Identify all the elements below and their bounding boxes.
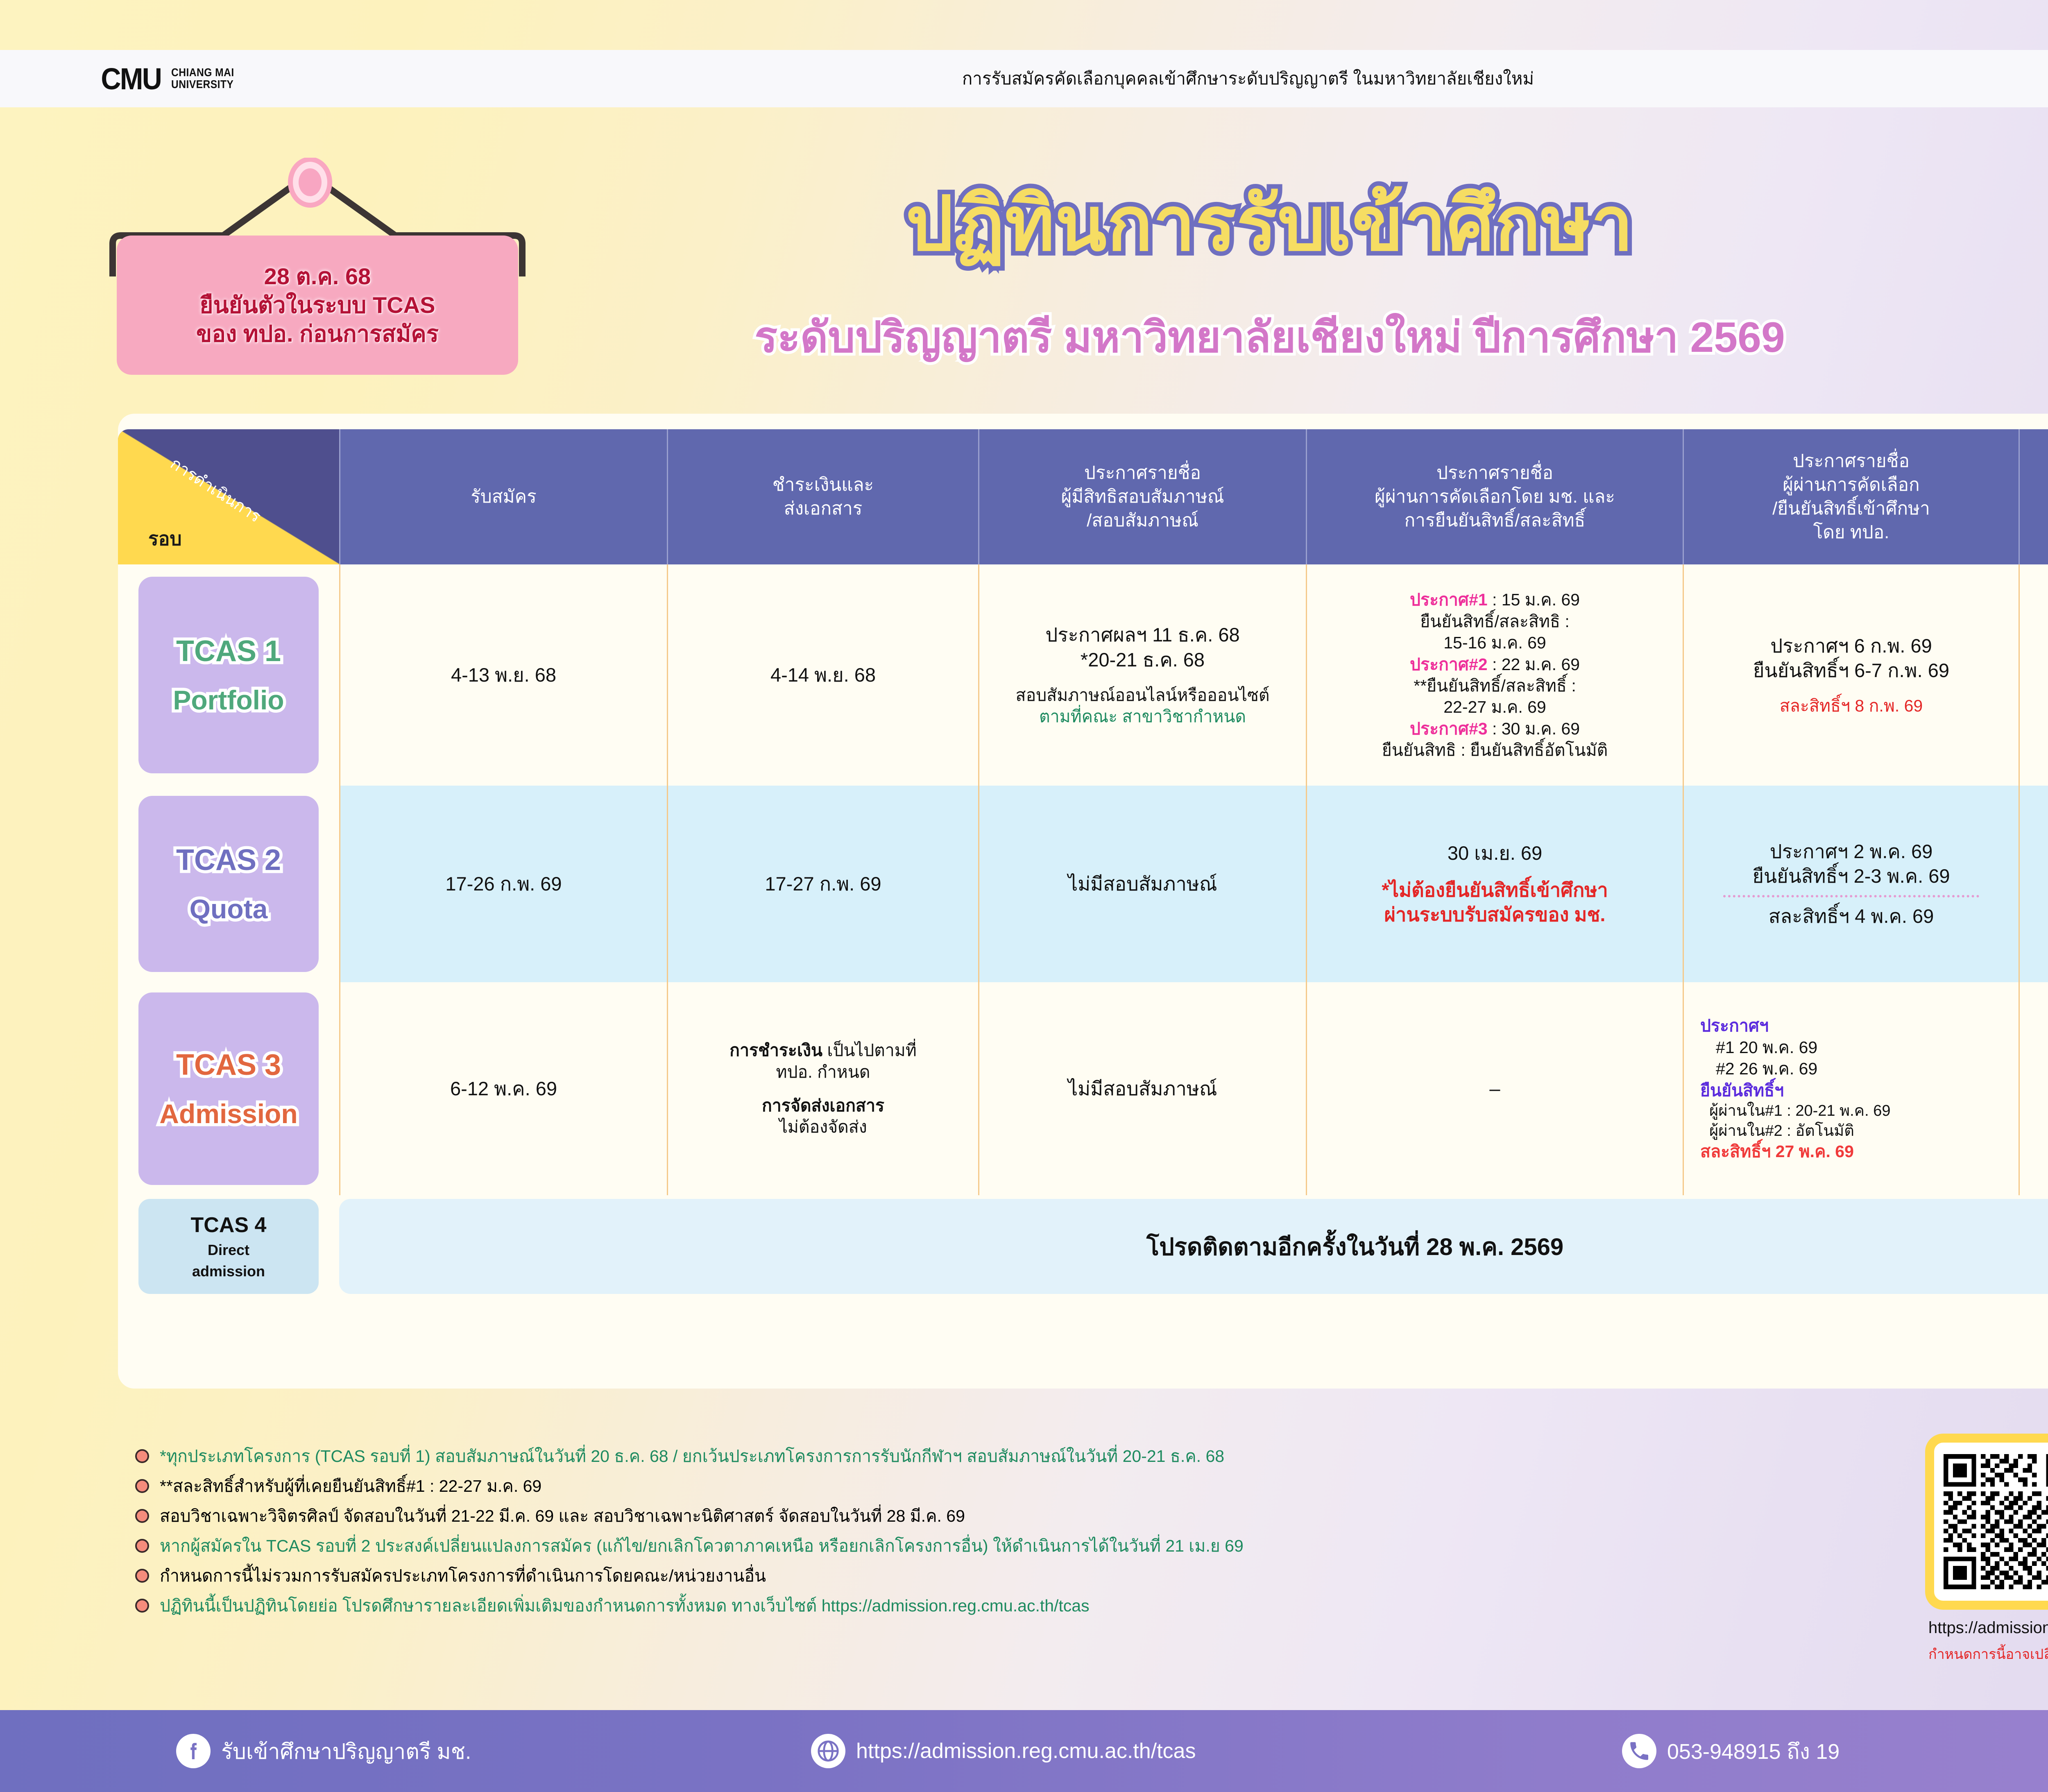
top-bar: CMU CHIANG MAI UNIVERSITY การรับสมัครคัด…	[0, 50, 2048, 107]
qr-code-icon[interactable]	[1944, 1454, 2048, 1589]
bullet-icon	[135, 1479, 149, 1493]
qr-url-text[interactable]: https://admission.reg.cmu.ac.th/tcas	[1925, 1619, 2048, 1637]
tcas1-tpo-cell: ประกาศฯ 6 ก.พ. 69 ยืนยันสิทธิ์ฯ 6-7 ก.พ.…	[1683, 564, 2019, 786]
col-header-payment: ชำระเงินและ ส่งเอกสาร	[667, 429, 978, 564]
tcas1-apply-cell: 4-13 พ.ย. 68	[339, 564, 667, 786]
tcas1-title: TCAS 1	[176, 634, 281, 668]
tcas1-cmu-confirmed-cell: 10 ก.พ. 69	[2019, 564, 2048, 786]
footnote-item: กำหนดการนี้ไม่รวมการรับสมัครประเภทโครงกา…	[135, 1565, 1876, 1586]
tcas1-cmu-selected-cell: ประกาศ#1 : 15 ม.ค. 69 ยืนยันสิทธิ์/สละสิ…	[1306, 564, 1683, 786]
tcas4-notice-cell: โปรดติดตามอีกครั้งในวันที่ 28 พ.ค. 2569	[339, 1199, 2048, 1294]
tcas2-title: TCAS 2	[176, 843, 281, 877]
bullet-icon	[135, 1599, 149, 1613]
tcas1-payment-cell: 4-14 พ.ย. 68	[667, 564, 978, 786]
tcas4-subtitle-2: admission	[192, 1263, 265, 1280]
footnote-item: หากผู้สมัครใน TCAS รอบที่ 2 ประสงค์เปลี่…	[135, 1536, 1876, 1556]
phone-label: 053-948915 ถึง 19	[1667, 1734, 1840, 1768]
qr-block: SCAN ME! https://admission.reg.cmu.ac.th…	[1925, 1434, 2048, 1665]
footnote-item: สอบวิชาเฉพาะวิจิตรศิลป์ จัดสอบในวันที่ 2…	[135, 1506, 1876, 1526]
badge-card: 28 ต.ค. 68 ยืนยันตัวในระบบ TCAS ของ ทปอ.…	[117, 236, 518, 375]
hanging-badge: 28 ต.ค. 68 ยืนยันตัวในระบบ TCAS ของ ทปอ.…	[100, 158, 535, 387]
badge-line-1: 28 ต.ค. 68	[264, 263, 371, 290]
tcas2-payment-cell: 17-27 ก.พ. 69	[667, 786, 978, 982]
bullet-icon	[135, 1509, 149, 1523]
tcas2-divider	[1723, 895, 1979, 897]
tcas2-tpo-cell: ประกาศฯ 2 พ.ค. 69 ยืนยันสิทธิ์ฯ 2-3 พ.ค.…	[1683, 786, 2019, 982]
table-corner-cell: การดำเนินการ รอบ	[118, 429, 339, 564]
tcas1-subtitle: Portfolio	[173, 684, 284, 716]
corner-label-round: รอบ	[148, 524, 182, 554]
phone-contact[interactable]: 053-948915 ถึง 19	[1622, 1734, 1840, 1768]
badge-line-3: ของ ทปอ. ก่อนการสมัคร	[196, 320, 439, 348]
col-header-tpo-confirm: ประกาศรายชื่อ ผู้ผ่านการคัดเลือก /ยืนยัน…	[1683, 429, 2019, 564]
table-row-tcas2: TCAS 2 Quota 17-26 ก.พ. 69 17-27 ก.พ. 69…	[118, 786, 2048, 982]
header-title: การรับสมัครคัดเลือกบุคคลเข้าศึกษาระดับปร…	[0, 65, 2048, 92]
page-title: ปฏิทินการรับเข้าศึกษา	[573, 164, 1966, 283]
tcas3-cmu-selected-cell: –	[1306, 982, 1683, 1195]
phone-icon	[1622, 1734, 1656, 1768]
row-label-tcas2: TCAS 2 Quota	[118, 786, 339, 982]
globe-icon	[811, 1734, 845, 1768]
footnote-item: ปฏิทินนี้เป็นปฏิทินโดยย่อ โปรดศึกษารายละ…	[135, 1595, 1876, 1616]
tcas2-cmu-confirmed-cell: 7 พ.ค. 69	[2019, 786, 2048, 982]
tcas1-interview-cell: ประกาศผลฯ 11 ธ.ค. 68 *20-21 ธ.ค. 68 สอบส…	[978, 564, 1306, 786]
bullet-icon	[135, 1449, 149, 1463]
tcas3-apply-cell: 6-12 พ.ค. 69	[339, 982, 667, 1195]
table-row-tcas4: TCAS 4 Direct admission โปรดติดตามอีกครั…	[118, 1195, 2048, 1298]
bullet-icon	[135, 1539, 149, 1553]
badge-line-2: ยืนยันตัวในระบบ TCAS	[200, 291, 435, 319]
facebook-link[interactable]: รับเข้าศึกษาปริญญาตรี มช.	[176, 1734, 471, 1768]
qr-disclaimer: กำหนดการนี้อาจเปลี่ยนแปลงได้ตามความเหมาะ…	[1925, 1643, 2048, 1665]
table-row-tcas3: TCAS 3 Admission 6-12 พ.ค. 69 การชำระเงิ…	[118, 982, 2048, 1195]
tcas4-subtitle-1: Direct	[208, 1241, 249, 1259]
tcas2-interview-cell: ไม่มีสอบสัมภาษณ์	[978, 786, 1306, 982]
tcas2-apply-cell: 17-26 ก.พ. 69	[339, 786, 667, 982]
row-label-tcas1: TCAS 1 Portfolio	[118, 564, 339, 786]
tcas3-payment-cell: การชำระเงิน เป็นไปตามที่ ทปอ. กำหนด การจ…	[667, 982, 978, 1195]
website-link[interactable]: https://admission.reg.cmu.ac.th/tcas	[811, 1734, 1196, 1768]
table-header-row: การดำเนินการ รอบ รับสมัคร ชำระเงินและ ส่…	[118, 429, 2048, 564]
col-header-cmu-confirmed: ประกาศรายชื่อ ผู้ยืนยันสิทธิ เข้าศึกษา โ…	[2019, 429, 2048, 564]
facebook-label: รับเข้าศึกษาปริญญาตรี มช.	[221, 1734, 471, 1768]
footnote-item: *ทุกประเภทโครงการ (TCAS รอบที่ 1) สอบสัม…	[135, 1446, 1876, 1466]
col-header-cmu-selected: ประกาศรายชื่อ ผู้ผ่านการคัดเลือกโดย มช. …	[1306, 429, 1683, 564]
footnote-item: **สละสิทธิ์สำหรับผู้ที่เคยยืนยันสิทธิ์#1…	[135, 1476, 1876, 1496]
tcas3-cmu-confirmed-cell: 2 มิ.ย 69	[2019, 982, 2048, 1195]
tcas2-subtitle: Quota	[190, 893, 268, 924]
tcas3-interview-cell: ไม่มีสอบสัมภาษณ์	[978, 982, 1306, 1195]
page-subtitle: ระดับปริญญาตรี มหาวิทยาลัยเชียงใหม่ ปีกา…	[512, 303, 2028, 371]
row-label-tcas4: TCAS 4 Direct admission	[118, 1195, 339, 1298]
bullet-icon	[135, 1569, 149, 1583]
tcas3-subtitle: Admission	[159, 1098, 297, 1129]
bottom-bar: รับเข้าศึกษาปริญญาตรี มช. https://admiss…	[0, 1710, 2048, 1792]
row-label-tcas3: TCAS 3 Admission	[118, 982, 339, 1195]
qr-code-frame[interactable]	[1925, 1434, 2048, 1610]
website-label: https://admission.reg.cmu.ac.th/tcas	[856, 1739, 1196, 1763]
facebook-icon	[176, 1734, 211, 1768]
tcas4-title: TCAS 4	[191, 1213, 267, 1237]
tcas3-tpo-cell: ประกาศฯ #1 20 พ.ค. 69 #2 26 พ.ค. 69 ยืนย…	[1683, 982, 2019, 1195]
tcas3-title: TCAS 3	[176, 1048, 281, 1082]
tcas2-cmu-selected-cell: 30 เม.ย. 69 *ไม่ต้องยืนยันสิทธิ์เข้าศึกษ…	[1306, 786, 1683, 982]
footnotes-list: *ทุกประเภทโครงการ (TCAS รอบที่ 1) สอบสัม…	[135, 1446, 1876, 1625]
col-header-interview-list: ประกาศรายชื่อ ผู้มีสิทธิสอบสัมภาษณ์ /สอบ…	[978, 429, 1306, 564]
table-row-tcas1: TCAS 1 Portfolio 4-13 พ.ย. 68 4-14 พ.ย. …	[118, 564, 2048, 786]
col-header-apply: รับสมัคร	[339, 429, 667, 564]
